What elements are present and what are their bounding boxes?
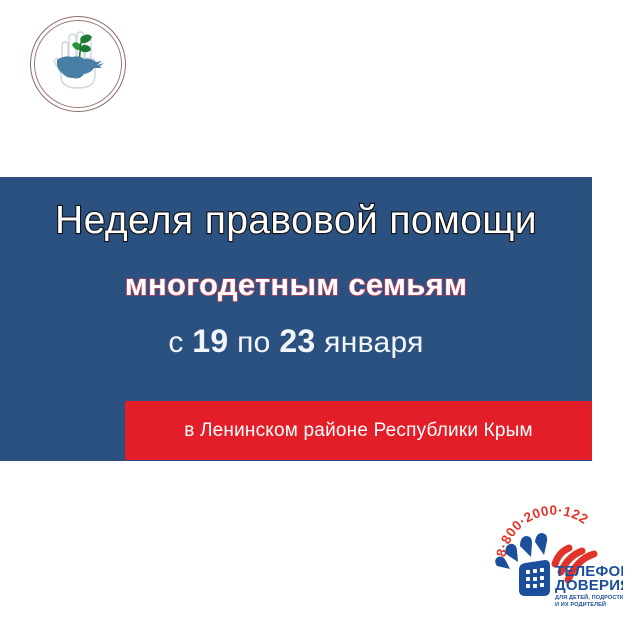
trust-subtitle-line1: ДЛЯ ДЕТЕЙ, ПОДРОСТКОВ xyxy=(555,593,623,601)
banner-title-sub: многодетным семьям xyxy=(0,269,592,300)
location-banner-text: в Ленинском районе Республики Крым xyxy=(184,420,533,442)
phone-keypad-icon xyxy=(519,560,550,596)
banner-dates: с 19 по 23 января xyxy=(0,325,592,358)
dates-middle: по xyxy=(237,326,271,359)
dates-prefix: с xyxy=(168,326,183,359)
emblem-artwork xyxy=(46,28,110,98)
trust-title-line2: ДОВЕРИЯ xyxy=(555,577,623,594)
telefon-doveriya-logo: 8·800·2000·122 xyxy=(489,494,623,608)
organization-emblem xyxy=(30,16,128,114)
dates-day-to: 23 xyxy=(279,323,315,359)
dates-month: января xyxy=(324,326,424,359)
trust-subtitle-line2: И ИХ РОДИТЕЛЕЙ xyxy=(555,600,606,608)
location-banner: в Ленинском районе Республики Крым xyxy=(125,401,592,460)
dates-day-from: 19 xyxy=(192,323,228,359)
banner-title-main: Неделя правовой помощи xyxy=(0,201,592,240)
poster-page: { "page": { "background_color": "#ffffff… xyxy=(0,0,640,640)
